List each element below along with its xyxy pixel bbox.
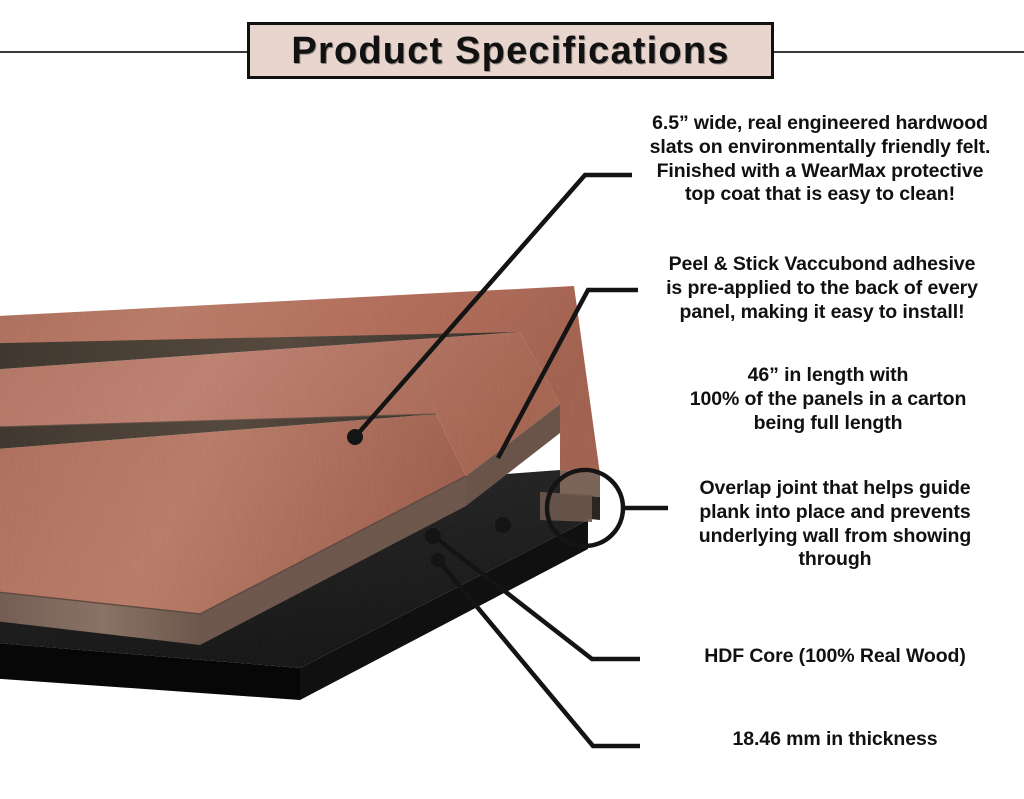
callout-slat-spec: 6.5” wide, real engineered hardwood slat… [624,112,1016,207]
callout-line: is pre-applied to the back of every [628,277,1016,301]
callout-length-spec: 46” in length with 100% of the panels in… [640,364,1016,435]
callout-line: panel, making it easy to install! [628,301,1016,325]
callout-line: Peel & Stick Vaccubond adhesive [628,253,1016,277]
callout-line: top coat that is easy to clean! [624,183,1016,207]
callout-line: slats on environmentally friendly felt. [624,136,1016,160]
anchor-dot-joint-edge [495,517,511,533]
callout-line: plank into place and prevents [654,501,1016,525]
callout-overlap-joint-spec: Overlap joint that helps guide plank int… [654,477,1016,572]
callout-line: Overlap joint that helps guide [654,477,1016,501]
callout-thickness-spec: 18.46 mm in thickness [654,728,1016,752]
callout-core-spec: HDF Core (100% Real Wood) [654,645,1016,669]
callout-line: 6.5” wide, real engineered hardwood [624,112,1016,136]
anchor-dot-slat [347,429,363,445]
callout-adhesive-spec: Peel & Stick Vaccubond adhesive is pre-a… [628,253,1016,324]
callout-line: HDF Core (100% Real Wood) [654,645,1016,669]
anchor-dot-thickness [431,553,445,567]
callout-line: being full length [640,412,1016,436]
callout-line: underlying wall from showing [654,525,1016,549]
callout-line: through [654,548,1016,572]
callout-line: 18.46 mm in thickness [654,728,1016,752]
callout-line: Finished with a WearMax protective [624,160,1016,184]
callout-line: 46” in length with [640,364,1016,388]
product-specifications-infographic: Product Specifications [0,0,1024,799]
anchor-dot-core [425,528,441,544]
callout-line: 100% of the panels in a carton [640,388,1016,412]
